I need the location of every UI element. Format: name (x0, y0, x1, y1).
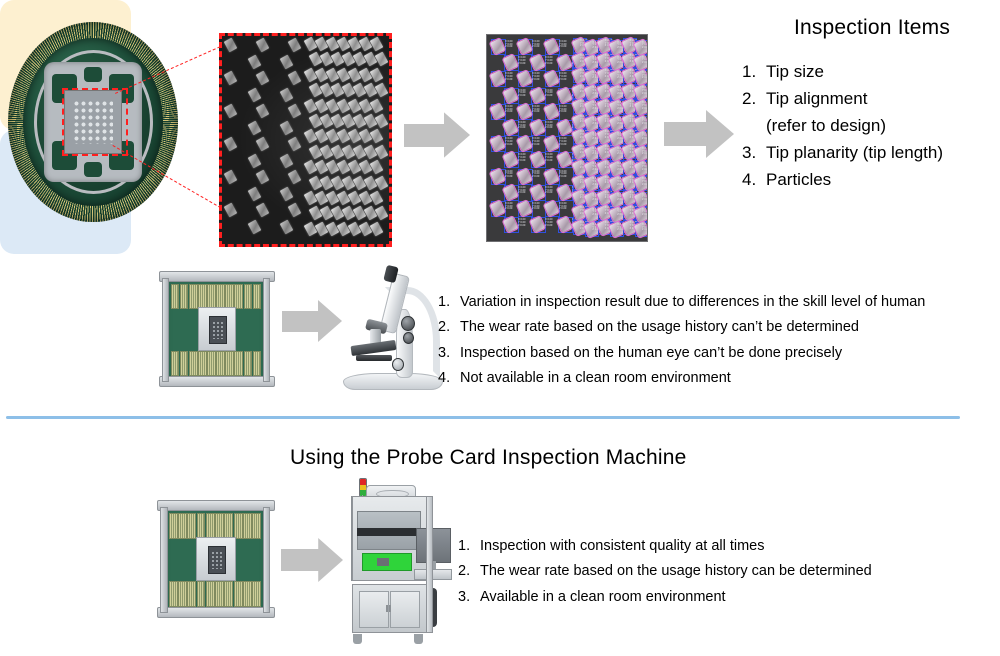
list-item: 2. The wear rate based on the usage hist… (438, 316, 996, 339)
probe-tip (248, 120, 262, 135)
probe-tip (315, 221, 329, 236)
probe-tip (304, 221, 318, 236)
probe-tip (304, 67, 318, 82)
probe-tip (315, 67, 329, 82)
probe-tip (320, 144, 334, 159)
list-item: 4. Not available in a clean room environ… (438, 367, 996, 390)
probe-tip (375, 52, 389, 67)
tip-measurement-label: X 0.00Y 0.00Z 0.00 (518, 90, 526, 98)
list-item-number: 2. (742, 87, 766, 112)
probe-tip (256, 71, 270, 86)
probe-tip (309, 144, 323, 159)
probe-tip (370, 67, 384, 82)
section-divider (6, 416, 960, 419)
tip-measurement-label: X 0.00Y 0.00Z 0.00 (642, 42, 648, 50)
list-item-number: 3. (458, 586, 480, 609)
machine-foot-right (414, 634, 422, 644)
tobe-heading: Using the Probe Card Inspection Machine (290, 446, 682, 470)
tip-measurement-label: X 0.00Y 0.00Z 0.00 (505, 171, 513, 179)
tip-measurement-label: X 0.00Y 0.00Z 0.00 (642, 102, 648, 110)
tip-measurement-label: X 0.00Y 0.00Z 0.00 (559, 73, 567, 81)
tip-measurement-label: X 0.00Y 0.00Z 0.00 (642, 57, 648, 65)
tip-measurement-label: X 0.00Y 0.00Z 0.00 (518, 122, 526, 130)
probe-tip (342, 144, 356, 159)
list-item-subnote: (refer to design) (742, 114, 998, 139)
probe-tip (304, 191, 318, 206)
probe-tip (359, 221, 373, 236)
probe-tip (248, 219, 262, 234)
list-item-label: The wear rate based on the usage history… (460, 316, 996, 339)
probe-tip (224, 38, 238, 53)
probe-tip (348, 67, 362, 82)
list-item: 1. Inspection with consistent quality at… (458, 535, 970, 558)
machine-side-column (426, 496, 432, 632)
machine-loaded-probe-card (362, 553, 412, 572)
cabinet-door-left (359, 591, 389, 628)
probe-tip (375, 206, 389, 221)
inspection-items-title: Inspection Items (752, 16, 992, 40)
probe-tip (224, 137, 238, 152)
tip-measurement-label: X 0.00Y 0.00Z 0.00 (642, 148, 648, 156)
list-item-number: 1. (742, 60, 766, 85)
optical-microscope-image (336, 266, 448, 390)
list-item-number: 3. (438, 342, 460, 365)
tobe-list-container: 1. Inspection with consistent quality at… (458, 535, 970, 611)
machine-cabinet (352, 584, 428, 632)
tip-measurement-label: X 0.00Y 0.00Z 0.00 (559, 138, 567, 146)
list-item-label: The wear rate based on the usage history… (480, 560, 970, 583)
cabinet-handle-right (389, 605, 391, 612)
probe-tip (359, 191, 373, 206)
microscope-base (343, 373, 444, 390)
slide-canvas: X 0.00Y 0.00Z 0.00X 0.00Y 0.00Z 0.00X 0.… (0, 0, 1000, 656)
asis-list: 1. Variation in inspection result due to… (438, 291, 996, 391)
tobe-list: 1. Inspection with consistent quality at… (458, 535, 970, 609)
pcb-side-left (162, 278, 169, 382)
probe-tip (375, 114, 389, 129)
probe-tip (364, 114, 378, 129)
list-item-number: 4. (438, 367, 460, 390)
list-item: 4. Particles (742, 168, 998, 193)
tip-measurement-label: X 0.00Y 0.00Z 0.00 (518, 154, 526, 162)
tip-measurement-label: X 0.00Y 0.00Z 0.00 (518, 187, 526, 195)
probe-tip (337, 37, 351, 52)
pcb-fingers-top (171, 284, 262, 307)
arrow-micrograph-to-analysis (404, 112, 470, 158)
microscope-stage-knob (392, 358, 404, 371)
arrow-analysis-to-items (664, 110, 734, 158)
tip-measurement-label: X 0.00Y 0.00Z 0.00 (532, 171, 540, 179)
pcb-die (209, 316, 227, 344)
pcb-rail-top (157, 500, 276, 511)
probe-tip (280, 186, 294, 201)
probe-tip (342, 114, 356, 129)
list-item-number: 2. (438, 316, 460, 339)
tip-measurement-label: X 0.00Y 0.00Z 0.00 (505, 106, 513, 114)
probe-tip (224, 104, 238, 119)
tip-measurement-label: X 0.00Y 0.00Z 0.00 (518, 219, 526, 227)
probe-tip (370, 37, 384, 52)
pcb-die (208, 546, 226, 574)
pcb-side-right (263, 278, 270, 382)
list-item: 2. Tip alignment (742, 87, 998, 112)
probe-card-inspection-machine-image (340, 478, 460, 644)
analyzed-probe-tip-image: X 0.00Y 0.00Z 0.00X 0.00Y 0.00Z 0.00X 0.… (486, 34, 648, 242)
probe-tip (248, 54, 262, 69)
probe-tip (288, 170, 302, 185)
probe-tip (280, 120, 294, 135)
list-item: 1. Variation in inspection result due to… (438, 291, 996, 314)
probe-tip (248, 186, 262, 201)
probe-tip (288, 137, 302, 152)
tip-measurement-label: X 0.00Y 0.00Z 0.00 (545, 57, 553, 65)
probe-tip (320, 114, 334, 129)
circular-probe-card-image (8, 22, 178, 222)
tip-measurement-label: X 0.00Y 0.00Z 0.00 (545, 122, 553, 130)
list-item-number: 4. (742, 168, 766, 193)
tip-measurement-label: X 0.00Y 0.00Z 0.00 (545, 154, 553, 162)
list-item-label: Tip alignment (766, 87, 998, 112)
probe-tip (331, 114, 345, 129)
probe-tip (304, 37, 318, 52)
list-item: 3. Tip planarity (tip length) (742, 141, 998, 166)
tip-measurement-label: X 0.00Y 0.00Z 0.00 (532, 73, 540, 81)
probe-tip (353, 144, 367, 159)
probe-tip (288, 104, 302, 119)
machine-gantry (357, 528, 419, 536)
tip-measurement-label: X 0.00Y 0.00Z 0.00 (532, 106, 540, 114)
tip-measurement-label: X 0.00Y 0.00Z 0.00 (518, 57, 526, 65)
tip-measurement-label: X 0.00Y 0.00Z 0.00 (642, 72, 648, 80)
pcb-rail-bottom (157, 607, 276, 618)
list-item-label: Inspection based on the human eye can’t … (460, 342, 996, 365)
probe-tip (256, 38, 270, 53)
probe-tip (348, 221, 362, 236)
probe-tip (256, 203, 270, 218)
tip-measurement-label: X 0.00Y 0.00Z 0.00 (505, 203, 513, 211)
probe-tip (359, 67, 373, 82)
probe-tip-micrograph (219, 33, 392, 247)
tip-measurement-label: X 0.00Y 0.00Z 0.00 (532, 138, 540, 146)
probe-tip (288, 71, 302, 86)
list-item-label: Not available in a clean room environmen… (460, 367, 996, 390)
tip-measurement-label: X 0.00Y 0.00Z 0.00 (505, 73, 513, 81)
pcb-rail-top (159, 271, 275, 282)
probe-tip (280, 54, 294, 69)
inspection-items-list-container: 1. Tip size 2. Tip alignment (refer to d… (742, 60, 998, 195)
probe-tip (248, 153, 262, 168)
pcb-side-left (160, 507, 168, 613)
list-item-label: Tip size (766, 60, 998, 85)
probe-tip (370, 98, 384, 113)
probe-tip (309, 114, 323, 129)
list-item-label: Inspection with consistent quality at al… (480, 535, 970, 558)
machine-foot-left (353, 634, 361, 644)
list-item: 3. Available in a clean room environment (458, 586, 970, 609)
tip-measurement-label: X 0.00Y 0.00Z 0.00 (559, 41, 567, 49)
list-item-number: 3. (742, 141, 766, 166)
list-item-number: 1. (438, 291, 460, 314)
tip-measurement-label: X 0.00Y 0.00Z 0.00 (545, 219, 553, 227)
probe-tip (337, 221, 351, 236)
list-item: 1. Tip size (742, 60, 998, 85)
square-probe-card-asis (162, 271, 270, 387)
probe-tip (370, 129, 384, 144)
pcb-fingers-bottom (169, 581, 261, 605)
probe-tip (326, 221, 340, 236)
probe-tip (331, 144, 345, 159)
pcb-fingers-top (169, 513, 261, 537)
list-item-number: 2. (458, 560, 480, 583)
arrow-asis (282, 300, 342, 342)
list-item-label: Available in a clean room environment (480, 586, 970, 609)
probe-tip (359, 37, 373, 52)
tip-measurement-label: X 0.00Y 0.00Z 0.00 (559, 203, 567, 211)
probe-tip (364, 144, 378, 159)
tip-measurement-label: X 0.00Y 0.00Z 0.00 (545, 90, 553, 98)
list-item-label: Particles (766, 168, 998, 193)
probe-tip (248, 87, 262, 102)
list-item-subnote-label: (refer to design) (742, 114, 998, 139)
probe-tip (256, 104, 270, 119)
probe-tip (326, 67, 340, 82)
tip-measurement-label: X 0.00Y 0.00Z 0.00 (642, 194, 648, 202)
probe-tip (224, 203, 238, 218)
probe-tip (348, 37, 362, 52)
tip-measurement-label: X 0.00Y 0.00Z 0.00 (642, 163, 648, 171)
probe-tip (288, 203, 302, 218)
probe-tip (326, 37, 340, 52)
machine-tray (414, 569, 452, 579)
tip-measurement-label: X 0.00Y 0.00Z 0.00 (559, 106, 567, 114)
tip-measurement-label: X 0.00Y 0.00Z 0.00 (532, 41, 540, 49)
probe-tip (288, 38, 302, 53)
tip-measurement-label: X 0.00Y 0.00Z 0.00 (532, 203, 540, 211)
probe-tip (370, 221, 384, 236)
probe-tip (224, 170, 238, 185)
tip-measurement-label: X 0.00Y 0.00Z 0.00 (505, 138, 513, 146)
probe-tip (326, 191, 340, 206)
probe-tip (370, 160, 384, 175)
probe-tip (375, 175, 389, 190)
tip-measurement-label: X 0.00Y 0.00Z 0.00 (642, 133, 648, 141)
tip-measurement-label: X 0.00Y 0.00Z 0.00 (545, 187, 553, 195)
probe-tip (337, 191, 351, 206)
asis-list-container: 1. Variation in inspection result due to… (438, 291, 996, 393)
probe-tip (375, 144, 389, 159)
probe-tip (348, 191, 362, 206)
probe-tip (337, 67, 351, 82)
probe-tip (280, 153, 294, 168)
cabinet-handle-left (386, 605, 388, 612)
arrow-tobe (281, 538, 343, 582)
tip-measurement-label: X 0.00Y 0.00Z 0.00 (642, 178, 648, 186)
pcb-fingers-bottom (171, 351, 262, 374)
pcb-center-block (198, 307, 237, 351)
inspection-items-list: 1. Tip size 2. Tip alignment (refer to d… (742, 60, 998, 193)
probe-tip (315, 37, 329, 52)
square-probe-card-tobe (160, 500, 270, 618)
probe-tip (256, 137, 270, 152)
tip-measurement-label: X 0.00Y 0.00Z 0.00 (505, 41, 513, 49)
tip-measurement-label: X 0.00Y 0.00Z 0.00 (642, 118, 648, 126)
micrograph-background (222, 36, 389, 244)
zoom-region-highlight (62, 88, 127, 156)
list-item: 3. Inspection based on the human eye can… (438, 342, 996, 365)
list-item: 2. The wear rate based on the usage hist… (458, 560, 970, 583)
probe-tip (280, 87, 294, 102)
tip-measurement-label: X 0.00Y 0.00Z 0.00 (642, 87, 648, 95)
probe-tip (280, 219, 294, 234)
microscope-fine-knob (403, 332, 414, 344)
list-item-label: Tip planarity (tip length) (766, 141, 998, 166)
pcb-center-block (196, 537, 235, 581)
microscope-lower-arm (356, 355, 392, 361)
probe-tip (353, 114, 367, 129)
pcb-side-right (263, 507, 271, 613)
probe-tip (256, 170, 270, 185)
tip-measurement-label: X 0.00Y 0.00Z 0.00 (642, 224, 648, 232)
probe-tip (224, 71, 238, 86)
list-item-label: Variation in inspection result due to di… (460, 291, 996, 314)
cabinet-door-right (390, 591, 420, 628)
list-item-number: 1. (458, 535, 480, 558)
pcb-rail-bottom (159, 376, 275, 387)
machine-monitor (416, 528, 452, 563)
tip-measurement-label: X 0.00Y 0.00Z 0.00 (642, 209, 648, 217)
probe-tip (375, 83, 389, 98)
probe-tip (315, 191, 329, 206)
tip-measurement-label: X 0.00Y 0.00Z 0.00 (559, 171, 567, 179)
probe-tip (370, 191, 384, 206)
